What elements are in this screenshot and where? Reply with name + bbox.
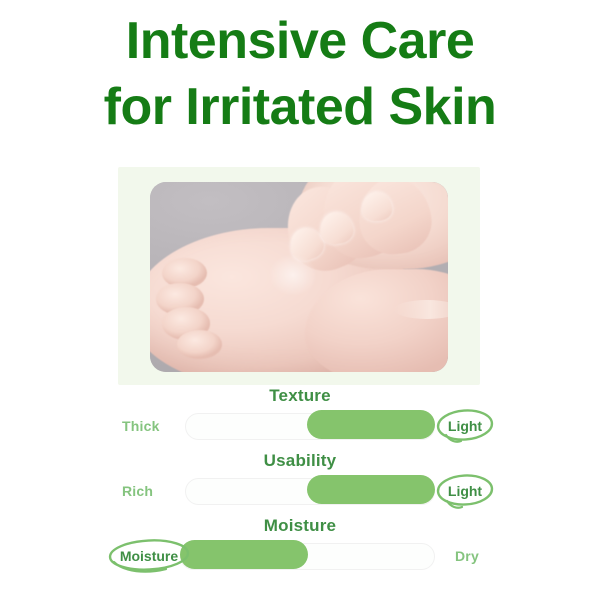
rating-row-moisture: Moisture Moisture Dry — [0, 516, 600, 581]
rating-right-label-dry: Dry — [455, 548, 479, 564]
rating-fill-moisture — [180, 540, 308, 569]
rating-fill-texture — [307, 410, 435, 439]
rating-right-label-light: Light — [434, 408, 496, 444]
hands-applying-cream-photo — [150, 182, 448, 372]
rating-bar-usability[interactable]: Rich Light — [0, 475, 600, 509]
cream-sheen-highlight — [269, 254, 317, 296]
rating-bar-texture[interactable]: Thick Light — [0, 410, 600, 444]
rating-right-badge-light: Light — [434, 408, 496, 444]
rating-title-texture: Texture — [0, 386, 600, 406]
rating-right-label-light: Light — [434, 473, 496, 509]
thumb-edge-shape — [394, 300, 448, 319]
page-title-line-1: Intensive Care — [0, 8, 600, 74]
page-title-line-2: for Irritated Skin — [0, 74, 600, 140]
rating-title-usability: Usability — [0, 451, 600, 471]
rating-title-moisture: Moisture — [0, 516, 600, 536]
rating-left-label-moisture: Moisture — [106, 538, 192, 574]
rating-row-texture: Texture Thick Light — [0, 386, 600, 451]
rating-fill-usability — [307, 475, 435, 504]
rating-left-badge-moisture: Moisture — [106, 538, 192, 574]
ratings-section: Texture Thick Light Usability Rich — [0, 386, 600, 581]
rating-row-usability: Usability Rich Light — [0, 451, 600, 516]
rating-left-label-thick: Thick — [122, 418, 160, 434]
photo-panel — [118, 167, 480, 385]
knuckle-shape — [177, 330, 222, 359]
rating-right-badge-light: Light — [434, 473, 496, 509]
page-title: Intensive Care for Irritated Skin — [0, 8, 600, 140]
rating-bar-moisture[interactable]: Moisture Dry — [0, 540, 600, 574]
rating-left-label-rich: Rich — [122, 483, 153, 499]
